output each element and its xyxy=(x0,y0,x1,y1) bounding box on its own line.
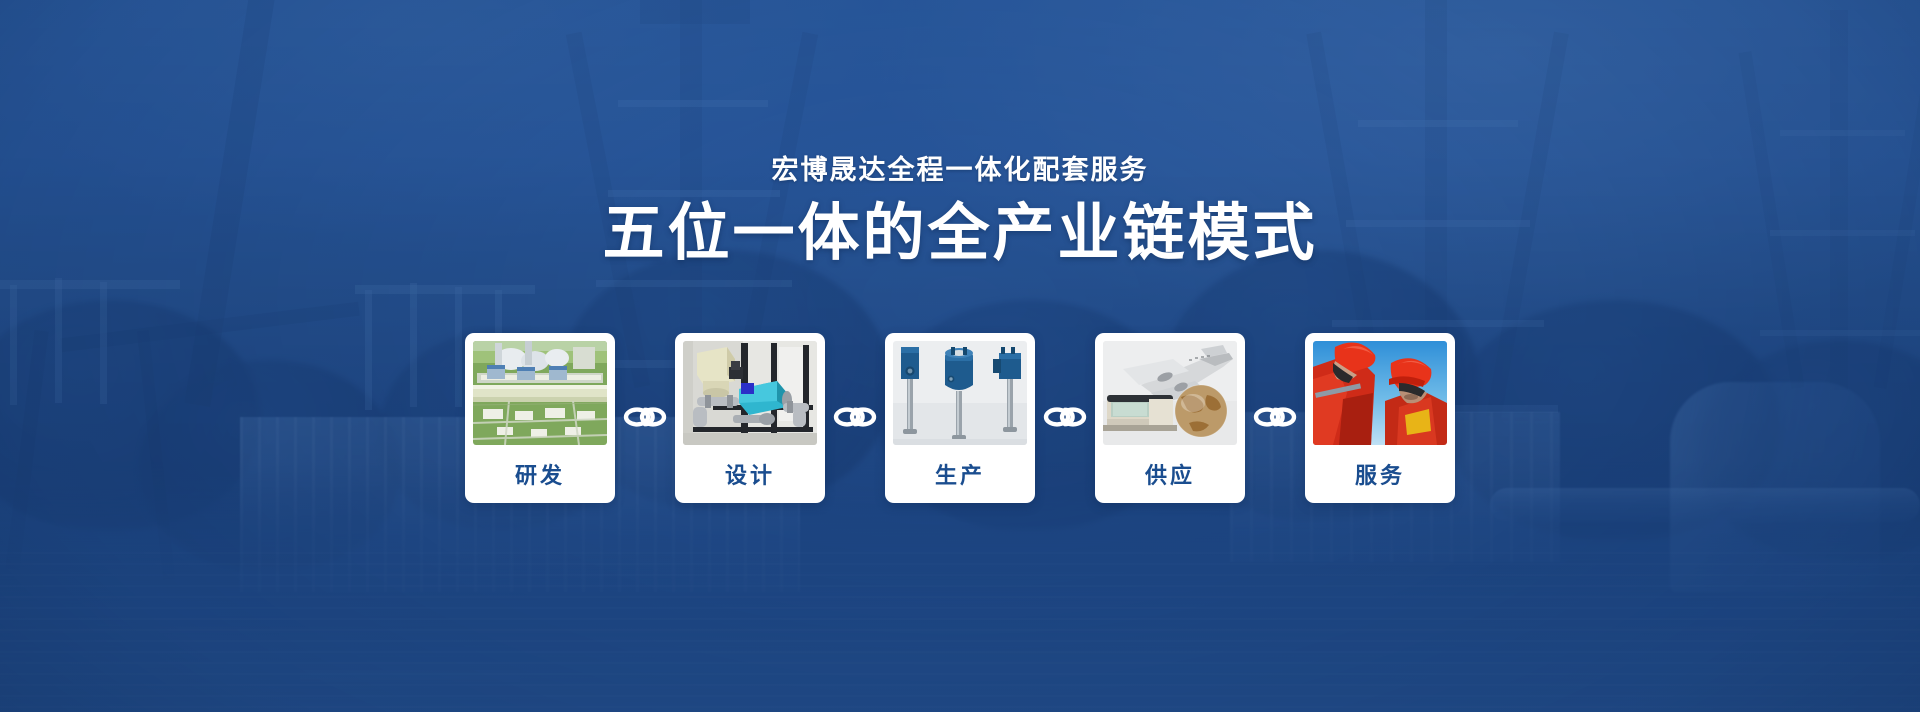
banner: 宏博晟达全程一体化配套服务 五位一体的全产业链模式 xyxy=(0,0,1920,712)
field-workers-red-helmets xyxy=(1313,341,1447,445)
blue-level-transmitter-instruments xyxy=(893,341,1027,445)
chain-link-icon xyxy=(1245,333,1305,501)
chain-link-icon xyxy=(1035,333,1095,501)
chain-card-label: 研发 xyxy=(473,445,607,503)
chain-card-label: 服务 xyxy=(1313,445,1447,503)
banner-content: 宏博晟达全程一体化配套服务 五位一体的全产业链模式 xyxy=(0,0,1920,712)
banner-headline: 五位一体的全产业链模式 xyxy=(0,198,1920,269)
chain-card-gongying[interactable]: 供应 xyxy=(1095,333,1245,503)
cad-piping-assembly-render xyxy=(683,341,817,445)
value-chain-row: 研发 xyxy=(0,333,1920,503)
chain-card-sheji[interactable]: 设计 xyxy=(675,333,825,503)
chain-card-shengchan[interactable]: 生产 xyxy=(885,333,1035,503)
chain-link-icon xyxy=(615,333,675,501)
chain-card-yanfa[interactable]: 研发 xyxy=(465,333,615,503)
chain-link-icon xyxy=(825,333,885,501)
chain-card-label: 生产 xyxy=(893,445,1027,503)
chain-card-label: 供应 xyxy=(1103,445,1237,503)
chain-card-fuwu[interactable]: 服务 xyxy=(1305,333,1455,503)
banner-subtitle: 宏博晟达全程一体化配套服务 xyxy=(0,148,1920,187)
airplane-truck-globe-logistics xyxy=(1103,341,1237,445)
chain-card-label: 设计 xyxy=(683,445,817,503)
power-plant-aerial-photo xyxy=(473,341,607,445)
